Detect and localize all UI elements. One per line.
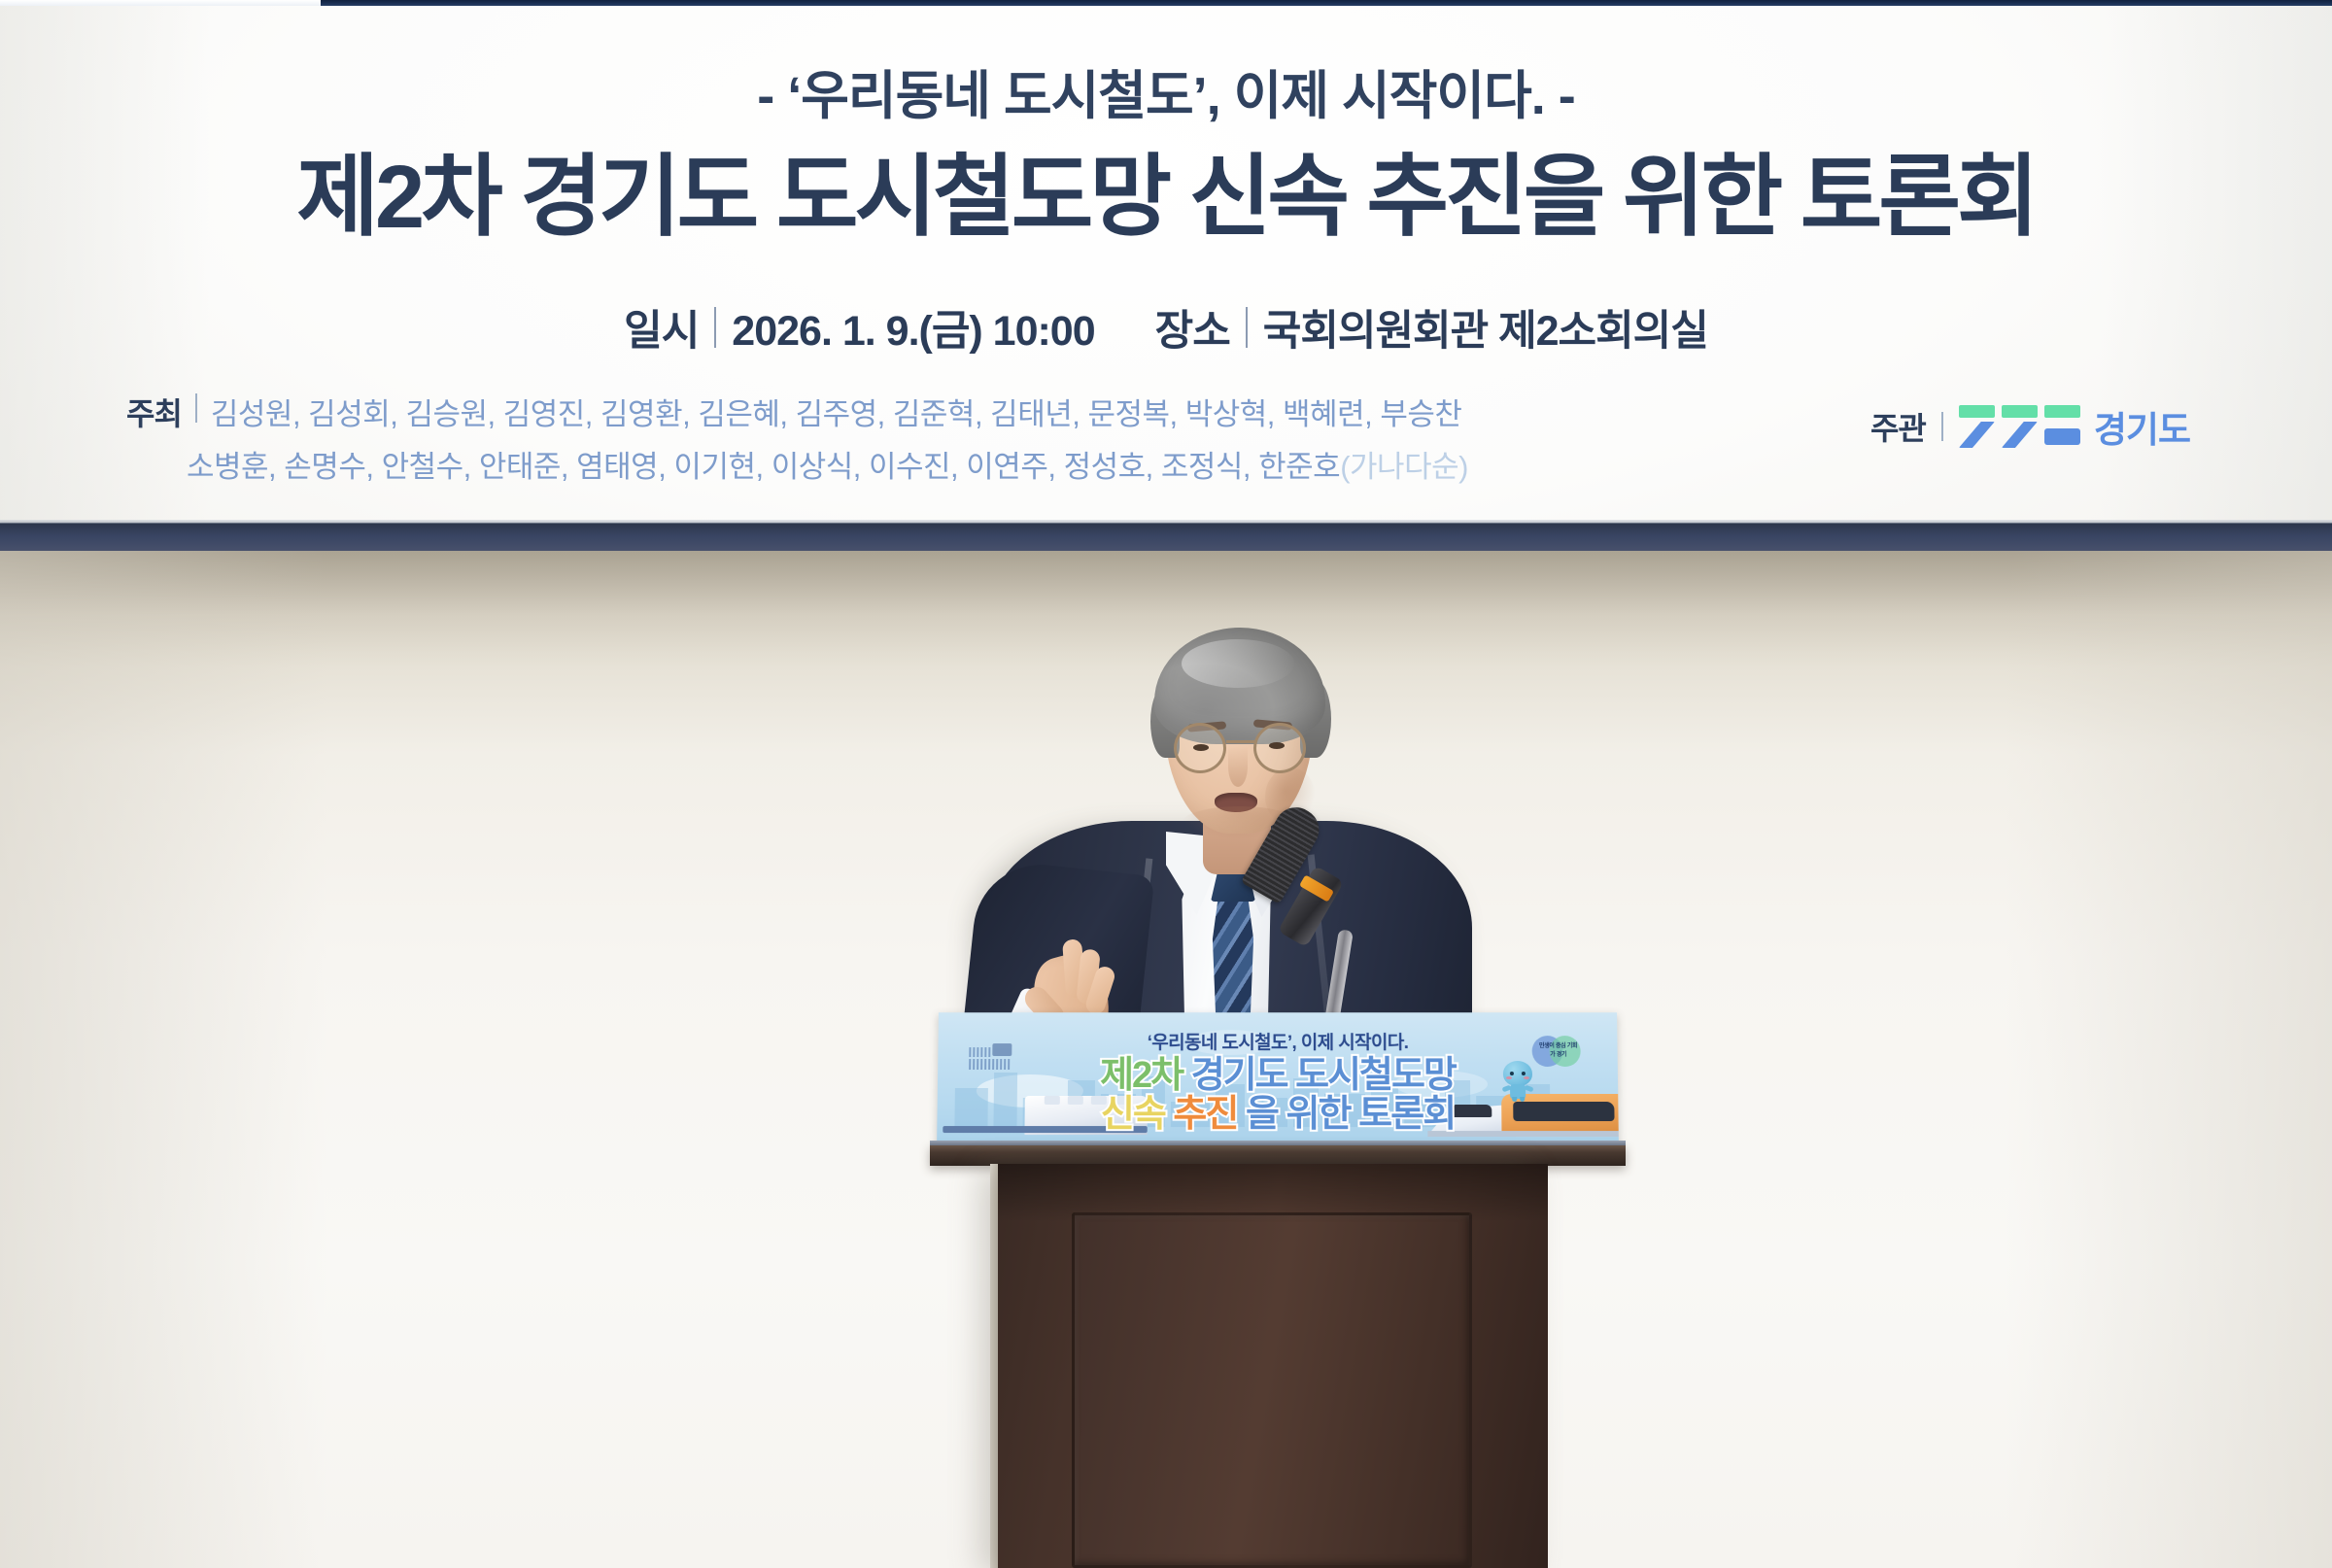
meta-venue: 장소 국회의원회관 제2소회의실 <box>1155 297 1708 358</box>
blue-mascot-character-icon <box>1501 1061 1534 1102</box>
logo-mark-3 <box>2044 405 2080 448</box>
host-row-first: 주최 김성원, 김성회, 김승원, 김영진, 김영환, 김은혜, 김주영, 김준… <box>126 390 1681 434</box>
podium-banner: 민생이 중심 기회가 경기 ‘우리동네 도시철도’, 이제 시작이다. 제2차 … <box>937 1012 1619 1148</box>
conference-photo-scene: - ‘우리동네 도시철도’, 이제 시작이다. - 제2차 경기도 도시철도망 … <box>0 0 2332 1568</box>
host-names-line1: 김성원, 김성회, 김승원, 김영진, 김영환, 김은혜, 김주영, 김준혁, … <box>211 390 1461 433</box>
slide-meta-row: 일시 2026. 1. 9.(금) 10:00 장소 국회의원회관 제2소회의실 <box>0 297 2332 358</box>
podium: 민생이 중심 기회가 경기 ‘우리동네 도시철도’, 이제 시작이다. 제2차 … <box>938 1012 1618 1568</box>
meta-datetime: 일시 2026. 1. 9.(금) 10:00 <box>624 297 1094 358</box>
slide-content: - ‘우리동네 도시철도’, 이제 시작이다. - 제2차 경기도 도시철도망 … <box>0 6 2332 528</box>
banner-emblem-left-icon <box>969 1043 1013 1071</box>
meta-datetime-label: 일시 <box>624 297 699 358</box>
meta-divider <box>714 307 716 348</box>
podium-body <box>998 1164 1548 1568</box>
banner-subtitle: ‘우리동네 도시철도’, 이제 시작이다. <box>938 1028 1617 1054</box>
podium-front-panel <box>1072 1212 1472 1568</box>
host-block: 주최 김성원, 김성회, 김승원, 김영진, 김영환, 김은혜, 김주영, 김준… <box>126 390 1681 486</box>
screen-frame-bar <box>0 523 2332 551</box>
slide-title: 제2차 경기도 도시철도망 신속 추진을 위한 토론회 <box>0 124 2332 254</box>
banner-word-blue-2: 을 위한 <box>1246 1096 1351 1133</box>
eye-right <box>1269 742 1285 749</box>
logo-mark-2 <box>2002 405 2038 448</box>
banner-emblem-right-icon: 민생이 중심 기회가 경기 <box>1532 1036 1583 1069</box>
banner-word-blue-3: 토론회 <box>1358 1096 1455 1133</box>
banner-word-yellow: 신속 <box>1101 1096 1165 1133</box>
management-label: 주관 <box>1870 404 1926 449</box>
banner-word-orange: 추진 <box>1173 1096 1237 1133</box>
meta-divider <box>1246 307 1248 348</box>
banner-emblem-right-text: 민생이 중심 기회가 경기 <box>1537 1042 1580 1060</box>
host-names-line2-tail: (가나다순) <box>1340 442 1468 486</box>
management-block: 주관 경기도 <box>1870 400 2190 453</box>
logo-mark-1 <box>1959 405 1995 448</box>
logo-wordmark: 경기도 <box>2094 400 2190 453</box>
gyeonggi-province-logo <box>1959 405 2080 448</box>
banner-word-blue: 경기도 도시철도망 <box>1191 1057 1456 1094</box>
podium-top-lip <box>930 1144 1626 1166</box>
meta-venue-label: 장소 <box>1155 297 1230 358</box>
slide-subtitle: - ‘우리동네 도시철도’, 이제 시작이다. - <box>0 52 2332 129</box>
nose <box>1228 746 1248 787</box>
host-divider <box>195 393 197 423</box>
banner-word-green: 제2차 <box>1100 1057 1183 1094</box>
host-names-line2: 소병훈, 손명수, 안철수, 안태준, 염태영, 이기현, 이상식, 이수진, … <box>187 442 1340 486</box>
eye-left <box>1193 744 1209 751</box>
host-label: 주최 <box>126 390 182 434</box>
meta-datetime-value: 2026. 1. 9.(금) 10:00 <box>732 297 1094 358</box>
host-row-second: 소병훈, 손명수, 안철수, 안태준, 염태영, 이기현, 이상식, 이수진, … <box>126 442 1681 486</box>
management-divider <box>1941 412 1943 441</box>
meta-venue-value: 국회의원회관 제2소회의실 <box>1263 297 1708 358</box>
